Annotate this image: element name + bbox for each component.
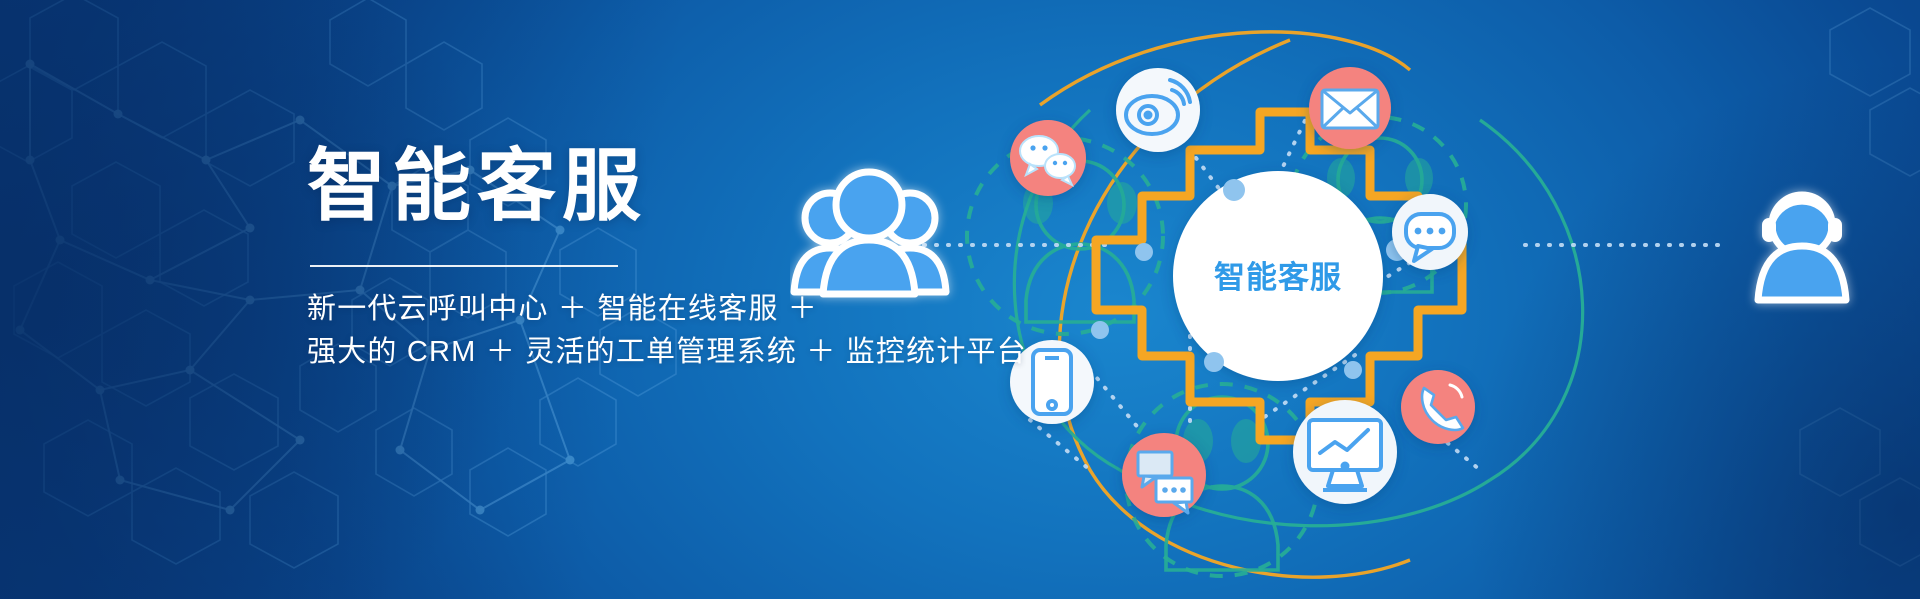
chat-bubble-icon bbox=[1392, 194, 1468, 270]
subtitle-line-2: 强大的 CRM ＋ 灵活的工单管理系统 ＋ 监控统计平台 bbox=[307, 332, 1007, 373]
monitor-chart-icon bbox=[1293, 400, 1397, 504]
weibo-icon bbox=[1116, 68, 1200, 152]
hero-banner: 智能客服 新一代云呼叫中心 ＋ 智能在线客服 ＋ 强大的 CRM ＋ 灵活的工单… bbox=[0, 0, 1920, 599]
banner-subtitle: 新一代云呼叫中心 ＋ 智能在线客服 ＋ 强大的 CRM ＋ 灵活的工单管理系统 … bbox=[307, 289, 1007, 373]
hub-node: 智能客服 bbox=[1173, 171, 1383, 381]
phone-call-icon bbox=[1401, 370, 1475, 444]
messages-icon bbox=[1122, 433, 1206, 517]
page-title: 智能客服 bbox=[307, 146, 1007, 225]
title-divider bbox=[310, 265, 618, 267]
agent-headset-icon bbox=[1758, 195, 1846, 300]
subtitle-line-1: 新一代云呼叫中心 ＋ 智能在线客服 ＋ bbox=[307, 289, 1007, 330]
wechat-icon bbox=[1010, 120, 1086, 196]
hub-label: 智能客服 bbox=[1214, 260, 1342, 295]
banner-copy: 智能客服 新一代云呼叫中心 ＋ 智能在线客服 ＋ 强大的 CRM ＋ 灵活的工单… bbox=[307, 146, 1007, 375]
email-icon bbox=[1309, 67, 1391, 149]
